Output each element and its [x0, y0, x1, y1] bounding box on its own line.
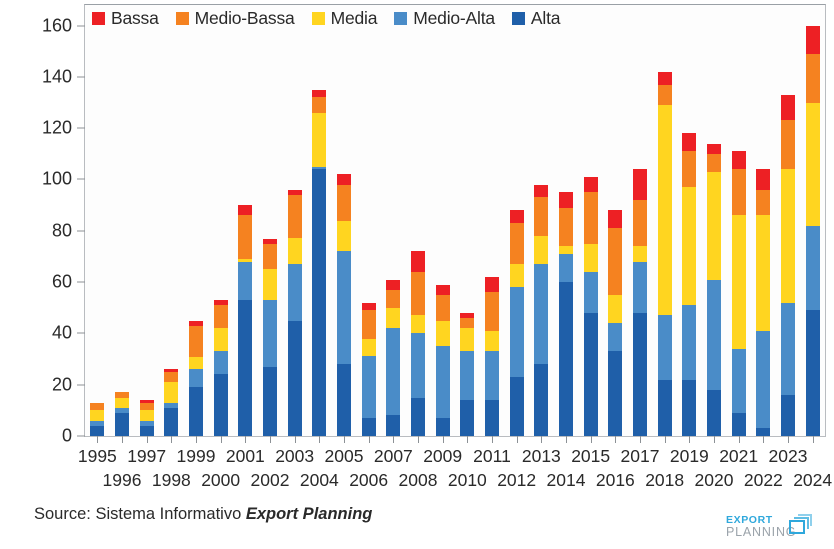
bar-group[interactable] — [214, 300, 228, 436]
source-emphasis: Export Planning — [246, 505, 373, 523]
x-axis-tick-mark — [640, 436, 641, 443]
bar-group[interactable] — [189, 321, 203, 436]
x-axis-tick-mark — [97, 436, 98, 443]
legend-label: Bassa — [111, 8, 159, 29]
bar-segment — [707, 390, 721, 436]
bar-segment — [756, 215, 770, 330]
bar-segment — [288, 321, 302, 436]
bar-group[interactable] — [238, 205, 252, 436]
bar-segment — [682, 151, 696, 187]
bar-segment — [781, 95, 795, 121]
y-axis-tick-label: 140 — [42, 66, 72, 87]
chart-legend: BassaMedio-BassaMediaMedio-AltaAlta — [92, 6, 560, 30]
x-axis-tick-label: 2021 — [719, 446, 758, 467]
bar-segment — [189, 357, 203, 370]
bar-segment — [164, 382, 178, 403]
bar-segment — [584, 272, 598, 313]
bar-segment — [732, 349, 746, 413]
bar-segment — [362, 310, 376, 338]
y-axis-tick-mark — [77, 333, 85, 334]
bar-group[interactable] — [288, 190, 302, 436]
legend-swatch-icon — [312, 12, 325, 25]
x-axis-tick-label: 2013 — [522, 446, 561, 467]
x-axis-tick-label: 2012 — [497, 470, 536, 491]
y-axis-tick-label: 60 — [52, 272, 72, 293]
bar-segment — [584, 192, 598, 243]
bar-segment — [362, 339, 376, 357]
bar-group[interactable] — [362, 303, 376, 436]
bar-segment — [436, 418, 450, 436]
bar-segment — [337, 251, 351, 364]
x-axis-tick-mark — [245, 436, 246, 443]
x-axis-tick-label: 2003 — [275, 446, 314, 467]
bar-segment — [263, 269, 277, 300]
bar-segment — [781, 120, 795, 169]
legend-item-bassa[interactable]: Bassa — [92, 8, 159, 29]
x-axis-tick-mark — [369, 436, 370, 443]
bar-segment — [214, 328, 228, 351]
bar-segment — [337, 221, 351, 252]
y-axis-tick-mark — [77, 25, 85, 26]
bar-segment — [386, 415, 400, 436]
x-axis-tick-label: 1999 — [177, 446, 216, 467]
bar-segment — [460, 351, 474, 400]
bar-group[interactable] — [732, 151, 746, 436]
bar-segment — [90, 403, 104, 411]
x-axis-tick-label: 1996 — [103, 470, 142, 491]
stacked-squares-icon — [788, 512, 814, 541]
bar-segment — [189, 326, 203, 357]
x-axis-tick-mark — [689, 436, 690, 443]
bar-group[interactable] — [164, 369, 178, 436]
x-axis-tick-mark — [393, 436, 394, 443]
bar-segment — [608, 228, 622, 295]
bar-segment — [164, 372, 178, 382]
legend-label: Medio-Bassa — [195, 8, 295, 29]
bar-segment — [386, 280, 400, 290]
bar-segment — [312, 169, 326, 436]
bar-segment — [534, 197, 548, 235]
bar-segment — [658, 72, 672, 85]
bar-group[interactable] — [608, 210, 622, 436]
bar-segment — [337, 185, 351, 221]
bar-segment — [559, 208, 573, 246]
legend-item-alta[interactable]: Alta — [512, 8, 560, 29]
bar-segment — [559, 254, 573, 282]
bar-group[interactable] — [460, 313, 474, 436]
x-axis-tick-label: 1998 — [152, 470, 191, 491]
y-axis-tick-label: 160 — [42, 15, 72, 36]
bar-segment — [584, 244, 598, 272]
bar-segment — [682, 133, 696, 151]
bar-segment — [707, 172, 721, 280]
bar-group[interactable] — [781, 95, 795, 436]
bar-segment — [411, 315, 425, 333]
bar-segment — [510, 210, 524, 223]
bar-segment — [115, 413, 129, 436]
legend-swatch-icon — [512, 12, 525, 25]
bar-segment — [756, 428, 770, 436]
bar-segment — [140, 426, 154, 436]
bar-segment — [288, 264, 302, 320]
x-axis-tick-label: 2008 — [399, 470, 438, 491]
bar-segment — [386, 290, 400, 308]
bar-segment — [608, 295, 622, 323]
bar-segment — [732, 215, 746, 348]
x-axis-tick-label: 2024 — [793, 470, 832, 491]
x-axis: 1995199619971998199920002001200220032004… — [0, 436, 834, 498]
bars-layer — [85, 5, 825, 436]
bar-group[interactable] — [411, 251, 425, 436]
legend-item-medio-alta[interactable]: Medio-Alta — [394, 8, 495, 29]
bar-group[interactable] — [263, 239, 277, 437]
x-axis-tick-label: 2005 — [325, 446, 364, 467]
bar-segment — [263, 244, 277, 270]
bar-segment — [189, 387, 203, 436]
legend-swatch-icon — [176, 12, 189, 25]
bar-segment — [534, 236, 548, 264]
bar-group[interactable] — [633, 169, 647, 436]
bar-segment — [189, 369, 203, 387]
bar-segment — [608, 323, 622, 351]
bar-segment — [362, 418, 376, 436]
bar-segment — [140, 410, 154, 420]
x-axis-tick-mark — [813, 436, 814, 443]
x-axis-tick-mark — [171, 436, 172, 443]
bar-segment — [559, 192, 573, 207]
bar-segment — [633, 169, 647, 200]
x-axis-tick-label: 2009 — [423, 446, 462, 467]
bar-segment — [633, 262, 647, 313]
x-axis-tick-mark — [196, 436, 197, 443]
y-axis-tick-label: 120 — [42, 118, 72, 139]
bar-group[interactable] — [756, 169, 770, 436]
bar-segment — [288, 238, 302, 264]
x-axis-tick-label: 2006 — [349, 470, 388, 491]
bar-segment — [534, 185, 548, 198]
x-axis-tick-label: 2002 — [251, 470, 290, 491]
bar-segment — [806, 103, 820, 226]
legend-label: Alta — [531, 8, 560, 29]
x-axis-tick-mark — [739, 436, 740, 443]
bar-segment — [411, 398, 425, 436]
bar-segment — [164, 408, 178, 436]
bar-segment — [411, 333, 425, 397]
bar-group[interactable] — [140, 400, 154, 436]
bar-segment — [90, 410, 104, 420]
bar-segment — [436, 295, 450, 321]
bar-segment — [214, 351, 228, 374]
y-axis-tick-mark — [77, 282, 85, 283]
bar-segment — [288, 195, 302, 239]
bar-segment — [707, 154, 721, 172]
bar-segment — [633, 200, 647, 246]
bar-segment — [238, 215, 252, 259]
bar-segment — [658, 315, 672, 379]
bar-segment — [608, 210, 622, 228]
export-planning-logo: EXPORT PLANNING — [726, 512, 822, 544]
bar-segment — [214, 374, 228, 436]
bar-segment — [436, 321, 450, 347]
bar-segment — [337, 174, 351, 184]
bar-segment — [584, 177, 598, 192]
bar-segment — [460, 328, 474, 351]
x-axis-tick-mark — [714, 436, 715, 443]
bar-segment — [584, 313, 598, 436]
bar-segment — [337, 364, 351, 436]
x-axis-tick-mark — [788, 436, 789, 443]
bar-segment — [510, 223, 524, 264]
bar-segment — [312, 113, 326, 167]
bar-group[interactable] — [485, 277, 499, 436]
x-axis-tick-label: 2010 — [448, 470, 487, 491]
legend-item-medio-bassa[interactable]: Medio-Bassa — [176, 8, 295, 29]
bar-segment — [658, 85, 672, 106]
bar-segment — [658, 105, 672, 315]
x-axis-tick-mark — [443, 436, 444, 443]
bar-segment — [411, 272, 425, 316]
brand-line-planning: PLANNING — [726, 525, 796, 539]
bar-segment — [658, 380, 672, 436]
x-axis-tick-mark — [541, 436, 542, 443]
x-axis-tick-label: 2015 — [571, 446, 610, 467]
bar-segment — [263, 367, 277, 436]
x-axis-tick-label: 2011 — [473, 446, 511, 467]
source-prefix: Source: Sistema Informativo — [34, 505, 241, 523]
bar-segment — [781, 303, 795, 395]
bar-segment — [707, 280, 721, 390]
x-axis-tick-mark — [591, 436, 592, 443]
x-axis-tick-label: 2016 — [596, 470, 635, 491]
bar-group[interactable] — [534, 185, 548, 436]
bar-segment — [806, 54, 820, 103]
bar-group[interactable] — [386, 280, 400, 436]
bar-segment — [460, 318, 474, 328]
x-axis-tick-label: 2014 — [547, 470, 586, 491]
y-axis-tick-label: 80 — [52, 220, 72, 241]
x-axis-tick-label: 2023 — [769, 446, 808, 467]
x-axis-tick-label: 2001 — [226, 446, 265, 467]
x-axis-tick-label: 2004 — [300, 470, 339, 491]
legend-swatch-icon — [394, 12, 407, 25]
x-axis-tick-label: 2007 — [374, 446, 413, 467]
bar-segment — [756, 331, 770, 428]
bar-segment — [559, 246, 573, 254]
x-axis-tick-mark — [418, 436, 419, 443]
y-axis-tick-mark — [77, 128, 85, 129]
bar-segment — [732, 169, 746, 215]
source-note: Source: Sistema Informativo Export Plann… — [34, 505, 372, 524]
x-axis-tick-mark — [319, 436, 320, 443]
y-axis-tick-label: 100 — [42, 169, 72, 190]
x-axis-tick-mark — [295, 436, 296, 443]
y-axis-tick-mark — [77, 384, 85, 385]
bar-segment — [485, 351, 499, 400]
bar-segment — [732, 413, 746, 436]
bar-segment — [312, 90, 326, 98]
y-axis: 020406080100120140160 — [0, 0, 84, 441]
x-axis-tick-label: 2000 — [201, 470, 240, 491]
bar-group[interactable] — [584, 177, 598, 436]
bar-segment — [238, 205, 252, 215]
x-axis-tick-mark — [122, 436, 123, 443]
bar-segment — [510, 287, 524, 377]
y-axis-tick-mark — [77, 76, 85, 77]
bar-group[interactable] — [806, 26, 820, 436]
bar-segment — [633, 313, 647, 436]
bar-segment — [682, 187, 696, 305]
x-axis-tick-mark — [147, 436, 148, 443]
x-axis-tick-mark — [221, 436, 222, 443]
x-axis-tick-label: 2017 — [621, 446, 660, 467]
bar-segment — [781, 395, 795, 436]
bar-segment — [510, 377, 524, 436]
bar-group[interactable] — [337, 174, 351, 436]
bar-segment — [436, 285, 450, 295]
bar-segment — [263, 300, 277, 367]
x-axis-tick-mark — [270, 436, 271, 443]
bar-segment — [756, 190, 770, 216]
bar-segment — [386, 308, 400, 329]
bar-segment — [485, 292, 499, 330]
bar-segment — [140, 403, 154, 411]
x-axis-tick-mark — [492, 436, 493, 443]
bar-segment — [312, 97, 326, 112]
x-axis-tick-mark — [517, 436, 518, 443]
bar-segment — [806, 226, 820, 311]
y-axis-tick-label: 40 — [52, 323, 72, 344]
x-axis-tick-label: 2018 — [645, 470, 684, 491]
bar-segment — [485, 331, 499, 352]
bar-segment — [238, 262, 252, 300]
bar-segment — [781, 169, 795, 302]
bar-group[interactable] — [510, 210, 524, 436]
legend-swatch-icon — [92, 12, 105, 25]
x-axis-tick-mark — [615, 436, 616, 443]
bar-segment — [806, 310, 820, 436]
bar-segment — [460, 400, 474, 436]
bar-segment — [214, 305, 228, 328]
bar-segment — [386, 328, 400, 415]
x-axis-tick-mark — [344, 436, 345, 443]
x-axis-tick-label: 2019 — [670, 446, 709, 467]
x-axis-tick-label: 1995 — [78, 446, 117, 467]
bar-group[interactable] — [559, 192, 573, 436]
bar-segment — [608, 351, 622, 436]
bar-segment — [485, 277, 499, 292]
x-axis-tick-label: 1997 — [127, 446, 166, 467]
bar-segment — [115, 398, 129, 408]
legend-item-media[interactable]: Media — [312, 8, 378, 29]
y-axis-tick-label: 20 — [52, 374, 72, 395]
x-axis-tick-mark — [467, 436, 468, 443]
bar-segment — [411, 251, 425, 272]
bar-segment — [633, 246, 647, 261]
bar-segment — [756, 169, 770, 190]
bar-segment — [362, 356, 376, 418]
bar-segment — [534, 364, 548, 436]
legend-label: Media — [331, 8, 378, 29]
x-axis-tick-mark — [566, 436, 567, 443]
bar-group[interactable] — [707, 144, 721, 436]
bar-segment — [806, 26, 820, 54]
bar-group[interactable] — [682, 133, 696, 436]
y-axis-tick-mark — [77, 230, 85, 231]
x-axis-tick-label: 2022 — [744, 470, 783, 491]
x-axis-tick-mark — [665, 436, 666, 443]
bar-segment — [510, 264, 524, 287]
bar-segment — [534, 264, 548, 364]
legend-label: Medio-Alta — [413, 8, 495, 29]
bar-segment — [238, 300, 252, 436]
bar-segment — [707, 144, 721, 154]
bar-group[interactable] — [115, 392, 129, 436]
bar-segment — [485, 400, 499, 436]
x-axis-tick-label: 2020 — [695, 470, 734, 491]
bar-group[interactable] — [436, 285, 450, 436]
bar-segment — [90, 426, 104, 436]
bar-segment — [682, 305, 696, 379]
bar-segment — [732, 151, 746, 169]
y-axis-tick-mark — [77, 179, 85, 180]
bar-segment — [436, 346, 450, 418]
bar-group[interactable] — [90, 403, 104, 436]
bar-group[interactable] — [312, 90, 326, 436]
x-axis-tick-mark — [763, 436, 764, 443]
bar-group[interactable] — [658, 72, 672, 436]
bar-segment — [559, 282, 573, 436]
bar-segment — [362, 303, 376, 311]
bar-segment — [682, 380, 696, 436]
chart-figure: 020406080100120140160 BassaMedio-BassaMe… — [0, 0, 834, 549]
